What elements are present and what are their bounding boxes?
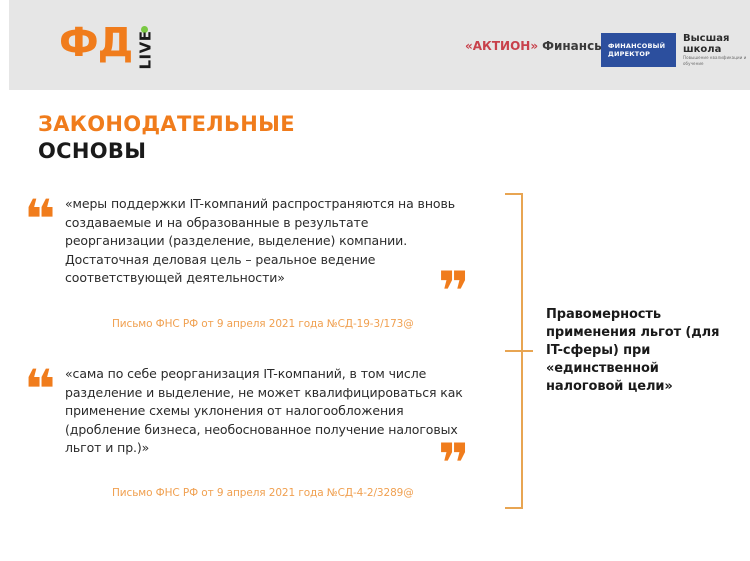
quote-block: ❝ «меры поддержки IT-компаний распростра… [0, 185, 500, 345]
fd-logo-live-wrap: LIVE [137, 28, 153, 68]
page-title-line2: ОСНОВЫ [38, 139, 295, 164]
financial-director-badge-line1: ФИНАНСОВЫЙ [608, 42, 670, 50]
financial-director-text: Высшая школа Повышение квалификации и об… [683, 33, 750, 67]
quote-open-icon: ❝ [24, 193, 56, 247]
financial-director-subtitle: Повышение квалификации и обучение [683, 55, 750, 67]
conclusion-text: Правомерность применения льгот (для IT-с… [546, 306, 736, 396]
quote-close-icon: ❞ [438, 265, 470, 319]
fd-logo-letters: ФД [59, 20, 132, 66]
aktion-logo-mark: «АКТИОН» [465, 39, 538, 53]
slide-root: ФД LIVE «АКТИОН» Финансы ФИНАНСОВЫЙ ДИРЕ… [0, 0, 750, 561]
brace-pointer-icon [505, 350, 533, 352]
quote-text: «меры поддержки IT-компаний распространя… [65, 195, 455, 288]
financial-director-badge: ФИНАНСОВЫЙ ДИРЕКТОР [601, 33, 676, 67]
quote-source: Письмо ФНС РФ от 9 апреля 2021 года №СД-… [112, 318, 414, 330]
quote-text: «сама по себе реорганизация IT-компаний,… [65, 365, 465, 458]
quote-close-icon: ❞ [438, 437, 470, 491]
financial-director-title: Высшая школа [683, 33, 750, 55]
header-band: ФД LIVE «АКТИОН» Финансы ФИНАНСОВЫЙ ДИРЕ… [9, 0, 750, 90]
financial-director-badge-line2: ДИРЕКТОР [608, 50, 670, 58]
aktion-logo-word: Финансы [542, 39, 605, 53]
financial-director-logo[interactable]: ФИНАНСОВЫЙ ДИРЕКТОР Высшая школа Повышен… [601, 33, 750, 67]
quote-source: Письмо ФНС РФ от 9 апреля 2021 года №СД-… [112, 487, 414, 499]
fd-logo-live-label: LIVE [137, 31, 155, 70]
quote-open-icon: ❝ [24, 363, 56, 417]
page-title: ЗАКОНОДАТЕЛЬНЫЕ ОСНОВЫ [38, 112, 295, 164]
page-title-line1: ЗАКОНОДАТЕЛЬНЫЕ [38, 112, 295, 137]
header-band-inner: ФД LIVE «АКТИОН» Финансы ФИНАНСОВЫЙ ДИРЕ… [9, 0, 750, 90]
fd-live-logo[interactable]: ФД LIVE [59, 20, 169, 70]
aktion-finansy-logo[interactable]: «АКТИОН» Финансы [465, 39, 605, 53]
quote-block: ❝ «сама по себе реорганизация IT-компани… [0, 355, 500, 520]
